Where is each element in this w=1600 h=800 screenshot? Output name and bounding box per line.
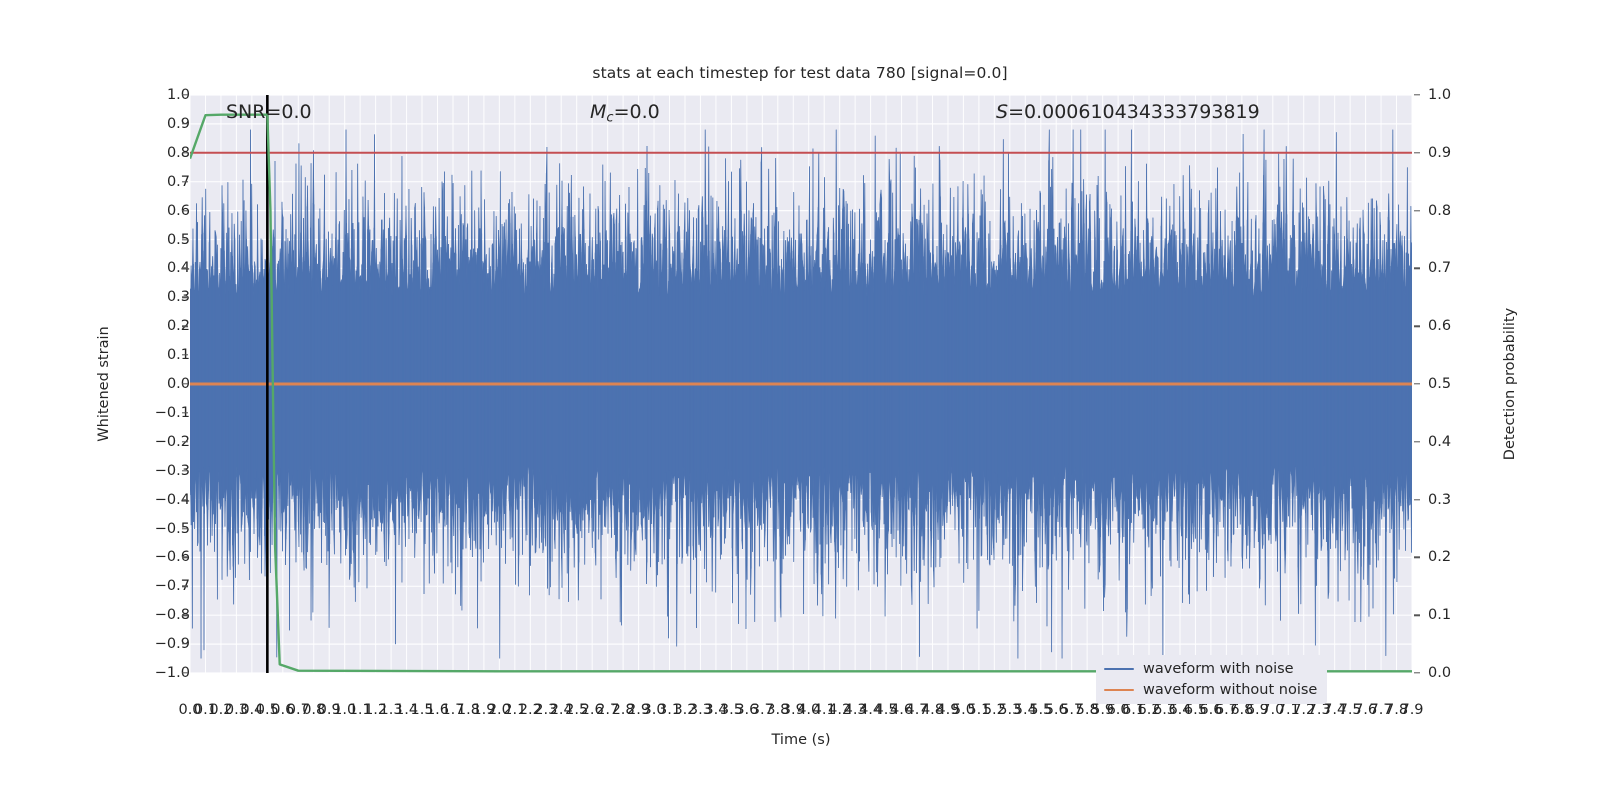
y-tick-label-right: 0.5: [1428, 376, 1488, 392]
legend-item: waveform without noise: [1104, 682, 1317, 698]
y-tick-mark-left: [182, 412, 188, 413]
y-tick-mark-left: [182, 94, 188, 95]
y-tick-label-left: 0.4: [130, 260, 190, 276]
annotation-snr: SNR=0.0: [226, 101, 312, 123]
y-tick-mark-left: [182, 325, 188, 326]
annotation-layer: SNR=0.0 Mc=0.0 S=0.000610434333793819: [190, 95, 1412, 673]
y-tick-label-left: −0.8: [130, 607, 190, 623]
y-axis-label-left: Whitened strain: [96, 326, 112, 441]
y-tick-label-left: −0.5: [130, 521, 190, 537]
page-title: stats at each timestep for test data 780…: [0, 64, 1600, 82]
y-tick-mark-right: [1414, 325, 1420, 326]
y-tick-label-right: 0.8: [1428, 203, 1488, 219]
x-tick-label: 7.9: [1400, 702, 1423, 718]
y-tick-label-left: 0.3: [130, 289, 190, 305]
legend-item-label: waveform without noise: [1143, 682, 1317, 698]
y-tick-mark-left: [182, 499, 188, 500]
y-tick-mark-left: [182, 672, 188, 673]
y-tick-mark-right: [1414, 94, 1420, 95]
y-tick-mark-left: [182, 586, 188, 587]
y-tick-mark-left: [182, 528, 188, 529]
y-tick-mark-right: [1414, 210, 1420, 211]
y-tick-mark-left: [182, 383, 188, 384]
y-tick-label-left: 0.1: [130, 347, 190, 363]
y-tick-label-left: 0.2: [130, 318, 190, 334]
y-tick-mark-left: [182, 210, 188, 211]
y-tick-mark-left: [182, 297, 188, 298]
y-tick-label-left: −0.3: [130, 463, 190, 479]
y-tick-mark-right: [1414, 268, 1420, 269]
y-tick-label-left: −0.9: [130, 636, 190, 652]
y-tick-mark-right: [1414, 499, 1420, 500]
y-tick-mark-left: [182, 123, 188, 124]
annotation-statistic: S=0.000610434333793819: [996, 101, 1260, 123]
y-tick-label-left: −0.1: [130, 405, 190, 421]
y-tick-mark-right: [1414, 672, 1420, 673]
y-tick-label-right: 0.7: [1428, 260, 1488, 276]
y-tick-label-right: 0.4: [1428, 434, 1488, 450]
y-tick-label-left: 0.0: [130, 376, 190, 392]
figure-canvas: stats at each timestep for test data 780…: [0, 0, 1600, 800]
y-tick-mark-right: [1414, 557, 1420, 558]
y-tick-mark-left: [182, 470, 188, 471]
y-tick-label-left: −1.0: [130, 665, 190, 681]
annotation-chirp-mass-value: =0.0: [614, 101, 660, 123]
legend-item-label: waveform with noise: [1143, 661, 1294, 677]
y-tick-label-left: 0.8: [130, 145, 190, 161]
plot-area: SNR=0.0 Mc=0.0 S=0.000610434333793819: [190, 95, 1412, 673]
annotation-chirp-mass: Mc=0.0: [590, 101, 660, 125]
y-tick-label-right: 0.3: [1428, 492, 1488, 508]
y-tick-label-left: 0.5: [130, 232, 190, 248]
annotation-chirp-mass-symbol: M: [590, 101, 606, 123]
y-tick-mark-left: [182, 268, 188, 269]
y-tick-label-left: 0.7: [130, 174, 190, 190]
y-tick-label-left: 1.0: [130, 87, 190, 103]
y-tick-mark-left: [182, 181, 188, 182]
y-tick-mark-left: [182, 441, 188, 442]
annotation-chirp-mass-subscript: c: [606, 110, 613, 125]
x-axis-label: Time (s): [772, 732, 831, 748]
annotation-statistic-symbol: S: [996, 101, 1008, 123]
y-tick-label-left: −0.6: [130, 549, 190, 565]
y-tick-mark-left: [182, 557, 188, 558]
y-tick-label-right: 0.0: [1428, 665, 1488, 681]
legend-swatch-icon: [1104, 668, 1134, 671]
y-tick-mark-left: [182, 643, 188, 644]
y-tick-label-left: −0.4: [130, 492, 190, 508]
legend-swatch-icon: [1104, 689, 1134, 692]
y-axis-label-right: Detection probability: [1502, 308, 1518, 460]
y-tick-label-left: −0.7: [130, 578, 190, 594]
y-tick-label-left: 0.9: [130, 116, 190, 132]
y-tick-mark-left: [182, 152, 188, 153]
y-tick-label-right: 1.0: [1428, 87, 1488, 103]
y-tick-label-right: 0.1: [1428, 607, 1488, 623]
y-tick-mark-left: [182, 614, 188, 615]
y-tick-mark-right: [1414, 383, 1420, 384]
y-tick-mark-left: [182, 239, 188, 240]
legend-item: waveform with noise: [1104, 661, 1317, 677]
annotation-statistic-value: =0.000610434333793819: [1008, 101, 1260, 123]
y-tick-mark-right: [1414, 441, 1420, 442]
y-tick-label-right: 0.6: [1428, 318, 1488, 334]
y-tick-mark-left: [182, 354, 188, 355]
y-tick-label-left: 0.6: [130, 203, 190, 219]
y-tick-label-right: 0.9: [1428, 145, 1488, 161]
y-tick-mark-right: [1414, 152, 1420, 153]
y-tick-mark-right: [1414, 614, 1420, 615]
legend: waveform with noisewaveform without nois…: [1096, 655, 1327, 704]
y-tick-label-left: −0.2: [130, 434, 190, 450]
y-tick-label-right: 0.2: [1428, 549, 1488, 565]
